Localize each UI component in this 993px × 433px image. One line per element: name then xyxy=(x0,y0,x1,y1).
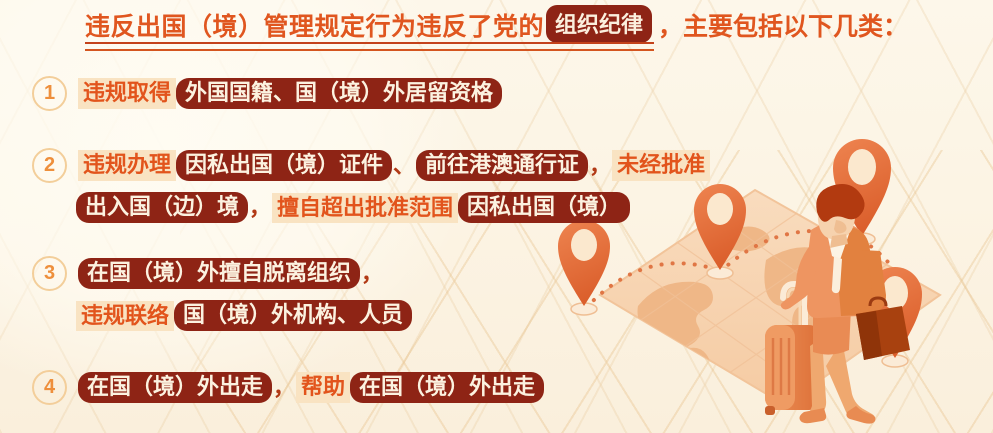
punctuation-text: ， xyxy=(272,376,296,399)
dark-badge-text: 在国（境）外出走 xyxy=(78,372,272,403)
list-number-badge: 3 xyxy=(32,256,67,291)
violation-item-4-line-1: 4在国（境）外出走，帮助在国（境）外出走 xyxy=(32,370,544,405)
dark-badge-text: 前往港澳通行证 xyxy=(416,150,588,181)
violation-item-2-line-2: 出入国（边）境，擅自超出批准范围因私出国（境） xyxy=(76,192,630,223)
highlight-text: 未经批准 xyxy=(612,150,710,180)
dark-badge-text: 国（境）外机构、人员 xyxy=(174,300,412,331)
dark-badge-text: 在国（境）外出走 xyxy=(350,372,544,403)
violation-item-3-line-1: 3在国（境）外擅自脱离组织， xyxy=(32,256,384,291)
highlight-text: 帮助 xyxy=(296,372,350,402)
highlight-text: 违规办理 xyxy=(78,150,176,180)
violation-item-2-line-1: 2违规办理因私出国（境）证件、前往港澳通行证，未经批准 xyxy=(32,148,710,183)
dark-badge-text: 出入国（边）境 xyxy=(76,192,248,223)
dark-badge-text: 外国国籍、国（境）外居留资格 xyxy=(176,78,502,109)
violation-item-3-line-2: 违规联络国（境）外机构、人员 xyxy=(76,300,412,331)
highlight-text: 违规取得 xyxy=(78,78,176,108)
poster-canvas: 违反出国（境）管理规定行为违反了党的组织纪律 ，主要包括以下几类： 1违规取得外… xyxy=(0,0,993,433)
punctuation-text: ， xyxy=(588,154,612,177)
dark-badge-text: 在国（境）外擅自脱离组织 xyxy=(78,258,360,289)
violation-item-1-line-1: 1违规取得外国国籍、国（境）外居留资格 xyxy=(32,76,502,111)
punctuation-text: ， xyxy=(248,196,272,219)
dark-badge-text: 因私出国（境） xyxy=(458,192,630,223)
highlight-text: 违规联络 xyxy=(76,301,174,331)
highlight-text: 擅自超出批准范围 xyxy=(272,193,458,223)
list-number-badge: 1 xyxy=(32,76,67,111)
list-number-badge: 4 xyxy=(32,370,67,405)
violation-list: 1违规取得外国国籍、国（境）外居留资格2违规办理因私出国（境）证件、前往港澳通行… xyxy=(0,0,993,433)
punctuation-text: 、 xyxy=(392,154,416,177)
punctuation-text: ， xyxy=(360,262,384,285)
list-number-badge: 2 xyxy=(32,148,67,183)
dark-badge-text: 因私出国（境）证件 xyxy=(176,150,392,181)
